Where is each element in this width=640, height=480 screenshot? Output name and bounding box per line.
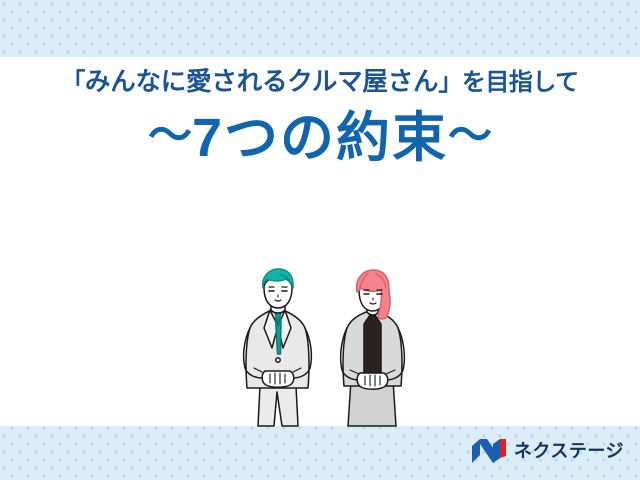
brand-logo-text: ネクステージ	[514, 442, 624, 460]
headline-line-2: 〜7つの約束〜	[0, 96, 640, 168]
male-staff-figure	[244, 269, 312, 426]
headline-line-1-open-quote: 「	[61, 69, 85, 96]
brand-logo: ネクステージ	[471, 436, 624, 466]
two-bowing-staff-illustration	[228, 268, 432, 428]
headline-line-1: 「みんなに愛されるクルマ屋さん」を目指して	[0, 0, 640, 96]
slide-canvas: 「みんなに愛されるクルマ屋さん」を目指して 〜7つの約束〜	[0, 0, 640, 480]
headline-line-1-tail: 」を目指して	[438, 69, 578, 96]
headline-line-1-main: みんなに愛されるクルマ屋さん	[85, 68, 438, 96]
headline-line-2-tilde-right: 〜	[448, 111, 492, 160]
female-staff-figure	[341, 270, 405, 426]
headline-line-2-main: 7つの約束	[192, 108, 448, 168]
nextage-n-logo-icon	[471, 438, 507, 464]
headline-block: 「みんなに愛されるクルマ屋さん」を目指して 〜7つの約束〜	[0, 0, 640, 169]
headline-line-2-tilde-left: 〜	[148, 111, 192, 160]
